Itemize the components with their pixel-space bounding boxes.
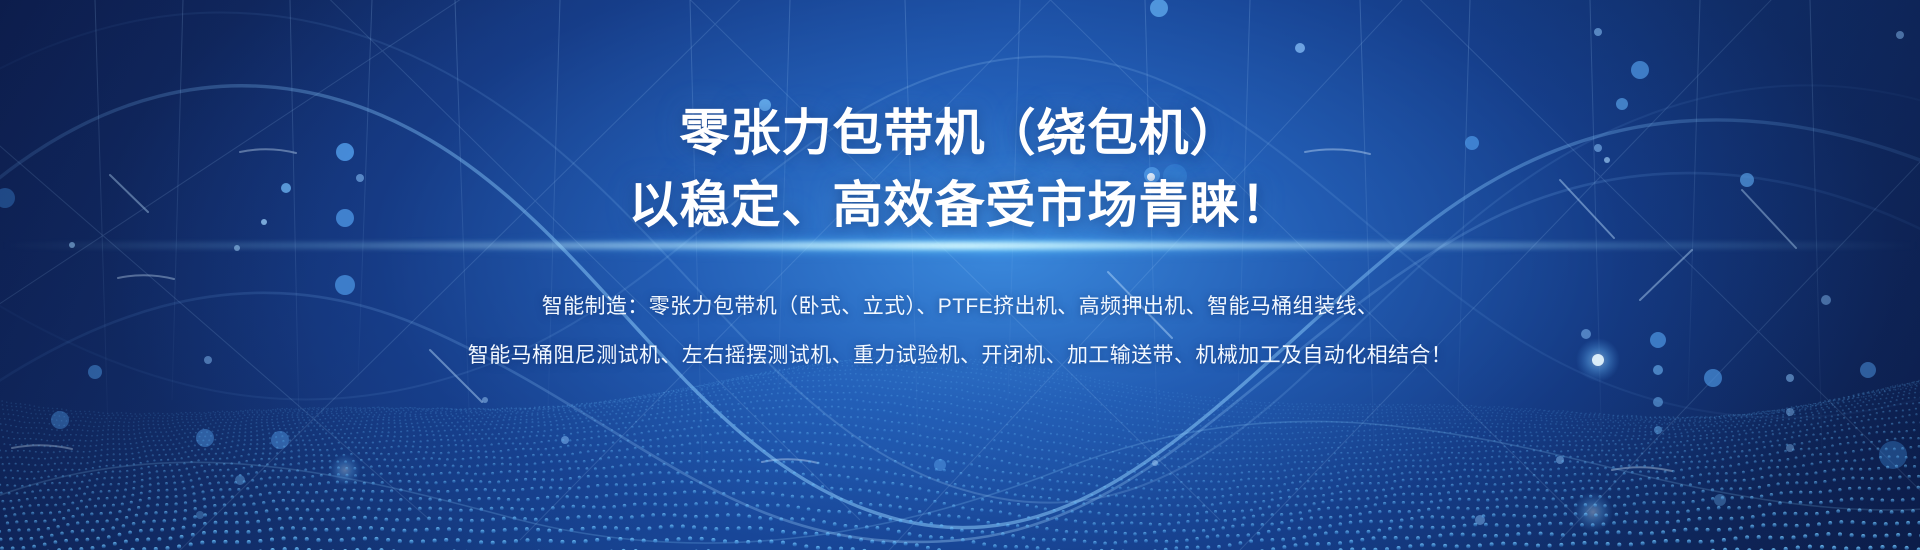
banner-subtitle-line-2: 智能马桶阻尼测试机、左右摇摆测试机、重力试验机、开闭机、加工输送带、机械加工及自… <box>0 341 1920 371</box>
promo-banner: 零张力包带机（绕包机） 以稳定、高效备受市场青睐！ 智能制造：零张力包带机（卧式… <box>0 0 1920 550</box>
banner-content: 零张力包带机（绕包机） 以稳定、高效备受市场青睐！ 智能制造：零张力包带机（卧式… <box>0 0 1920 550</box>
banner-subtitle-line-1: 智能制造：零张力包带机（卧式、立式）、PTFE挤出机、高频押出机、智能马桶组装线… <box>0 292 1920 322</box>
banner-title-line-2: 以稳定、高效备受市场青睐！ <box>0 176 1920 234</box>
banner-title-line-1: 零张力包带机（绕包机） <box>0 104 1920 162</box>
